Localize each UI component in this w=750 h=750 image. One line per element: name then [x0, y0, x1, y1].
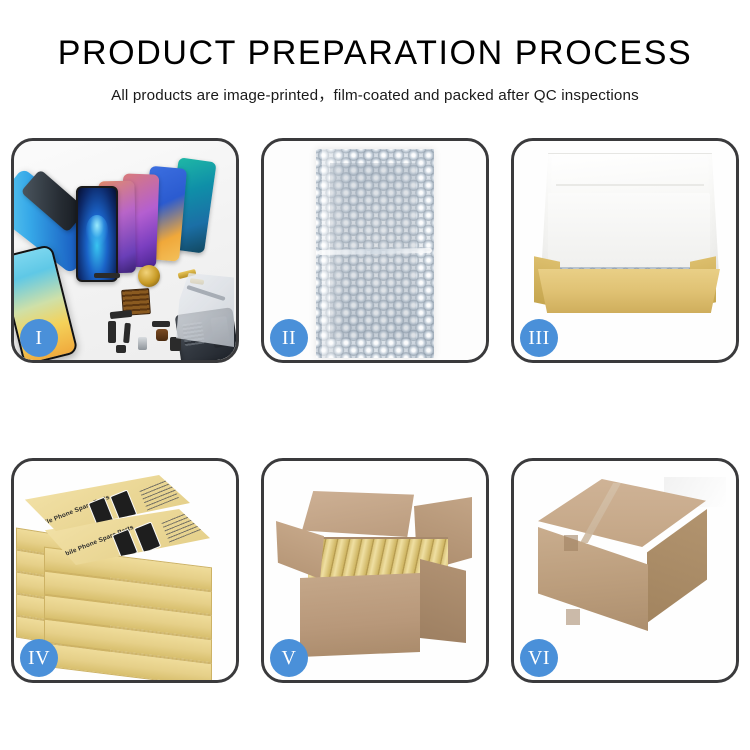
part-sim-tray — [138, 337, 147, 350]
step-badge-3: III — [520, 319, 558, 357]
page-title: PRODUCT PREPARATION PROCESS — [0, 36, 750, 72]
process-step-card-3[interactable]: III — [511, 138, 739, 363]
process-step-card-6[interactable]: VI — [511, 458, 739, 683]
carton-crease-bottom — [566, 609, 580, 625]
process-step-grid: I II III — [11, 138, 739, 683]
step-badge-2: II — [270, 319, 308, 357]
step-badge-5: V — [270, 639, 308, 677]
carton-crease-top — [564, 535, 578, 551]
part-cable-2 — [123, 323, 131, 343]
process-step-card-5[interactable]: V — [261, 458, 489, 683]
page-subtitle: All products are image-printed，film-coat… — [0, 83, 750, 105]
step-badge-6: VI — [520, 639, 558, 677]
part-strip-1 — [94, 273, 120, 278]
speaker-coil-part — [138, 265, 160, 287]
part-battery-connector — [170, 337, 181, 351]
carton-side-panel — [420, 559, 466, 643]
process-step-card-1[interactable]: I — [11, 138, 239, 363]
carton-flap-back — [302, 491, 414, 537]
part-camera-module — [156, 329, 168, 341]
part-connector-2 — [152, 321, 170, 327]
carton-front-panel — [300, 573, 420, 657]
part-button-1 — [116, 345, 126, 353]
step-badge-4: IV — [20, 639, 58, 677]
step-badge-1: I — [20, 319, 58, 357]
foam-insert — [548, 193, 710, 269]
process-step-card-4[interactable]: Mobile Phone Spare Parts Mobile Phone Sp… — [11, 458, 239, 683]
part-cable-1 — [108, 321, 116, 343]
box-front-panel — [538, 269, 720, 313]
page-header: PRODUCT PREPARATION PROCESS All products… — [0, 0, 750, 105]
part-connector-1 — [110, 310, 133, 319]
process-step-card-2[interactable]: II — [261, 138, 489, 363]
